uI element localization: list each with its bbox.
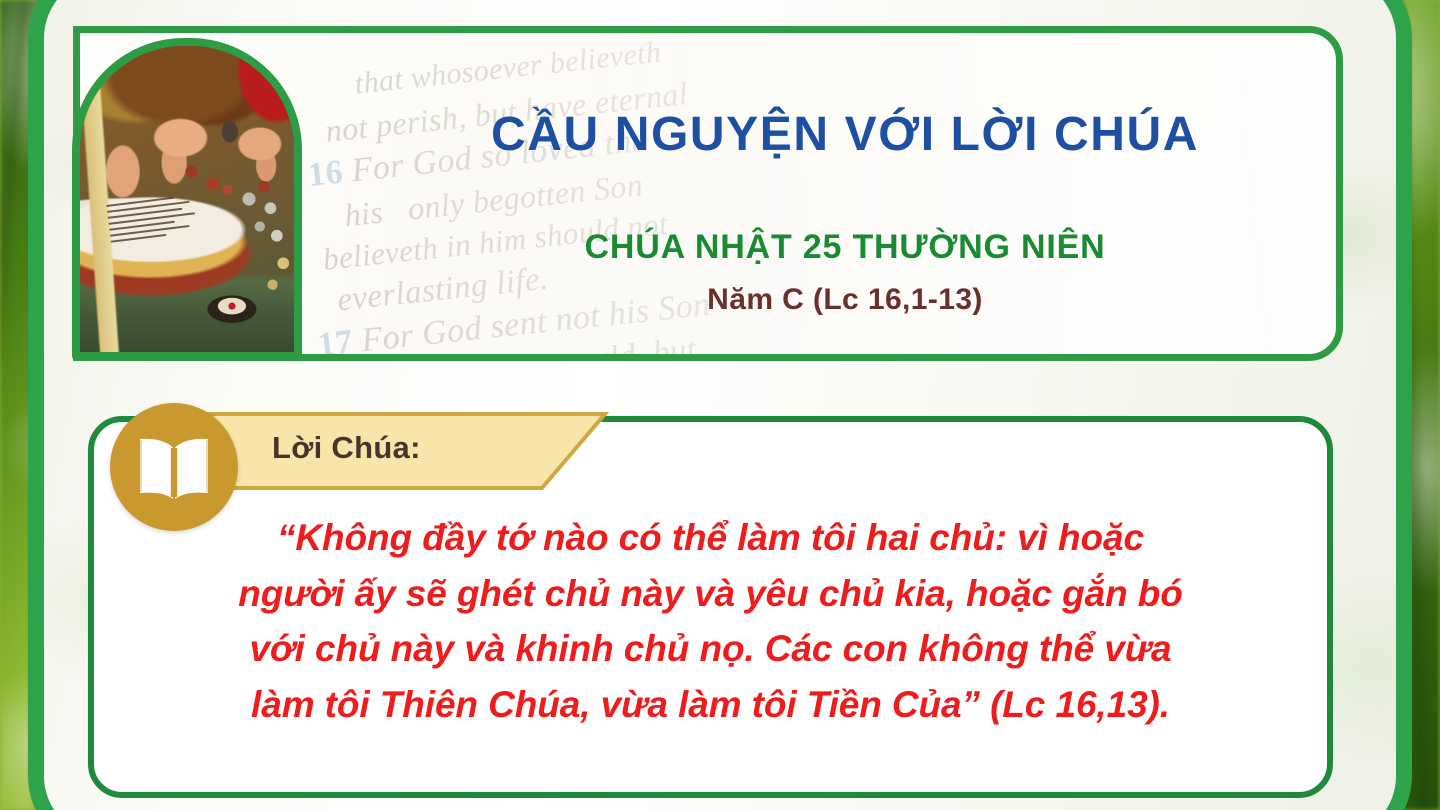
painting-thumbnail xyxy=(72,38,302,360)
page-title: CẦU NGUYỆN VỚI LỜI CHÚA xyxy=(491,107,1199,162)
open-book-icon xyxy=(134,434,214,500)
loi-chua-label: Lời Chúa: xyxy=(272,430,421,466)
scripture-line: làm tôi Thiên Chúa, vừa làm tôi Tiền Của… xyxy=(134,677,1287,733)
scripture-line: người ấy sẽ ghét chủ này và yêu chủ kia,… xyxy=(134,566,1287,622)
ledger-handwriting xyxy=(106,194,208,272)
scripture-line: với chủ này và khinh chủ nọ. Các con khô… xyxy=(134,621,1287,677)
liturgical-season-title: CHÚA NHẬT 25 THƯỜNG NIÊN xyxy=(585,228,1106,267)
header-text-stack: CẦU NGUYỆN VỚI LỜI CHÚA CHÚA NHẬT 25 THƯ… xyxy=(380,33,1310,354)
scripture-reference-subtitle: Năm C (Lc 16,1-13) xyxy=(707,283,983,317)
scripture-quote: “Không đầy tớ nào có thể làm tôi hai chủ… xyxy=(134,510,1287,732)
scripture-line: “Không đầy tớ nào có thể làm tôi hai chủ… xyxy=(134,510,1287,566)
open-book-badge xyxy=(110,403,238,531)
